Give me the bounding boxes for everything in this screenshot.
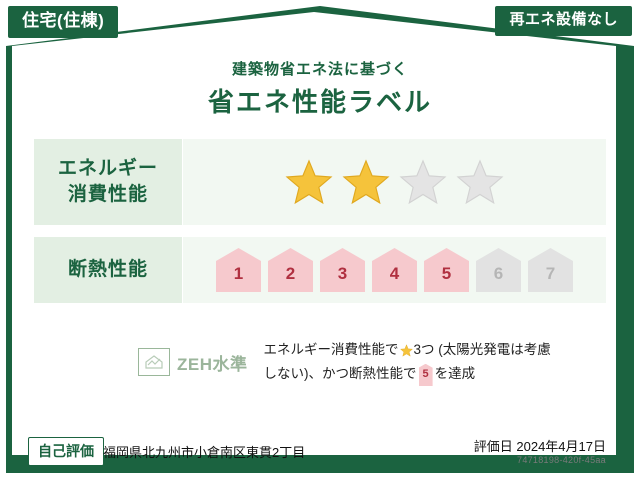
insulation-grade-5: 5	[424, 248, 469, 292]
insulation-grade-6: 6	[476, 248, 521, 292]
energy-performance-stars-area	[182, 139, 606, 225]
grade-number-1: 1	[234, 264, 243, 292]
page-title: 省エネ性能ラベル	[0, 82, 640, 119]
property-address: 福岡県北九州市小倉南区東貫2丁目	[103, 442, 305, 461]
insulation-grades-area: 1 2 3 4 5	[182, 237, 606, 303]
star-icon-inline	[400, 344, 413, 357]
insulation-performance-row: 断熱性能 1 2 3 4	[33, 236, 607, 304]
grade-number-2: 2	[286, 264, 295, 292]
insulation-grade-7: 7	[528, 248, 573, 292]
star-icon-empty-3	[399, 159, 447, 205]
zeh-badge: ZEH水準	[138, 348, 248, 376]
zeh-badge-label: ZEH水準	[177, 350, 248, 375]
insulation-grade-3: 3	[320, 248, 365, 292]
grade-number-5: 5	[442, 264, 451, 292]
star-icon-filled-1	[285, 159, 333, 205]
insulation-grade-2: 2	[268, 248, 313, 292]
energy-label-line2: 消費性能	[68, 184, 148, 205]
house-type-tag: 住宅(住棟)	[8, 6, 118, 38]
title-subtitle: 建築物省エネ法に基づく	[0, 58, 640, 79]
star-rating	[285, 159, 504, 205]
energy-label-line1: エネルギー	[58, 158, 158, 179]
evaluation-date: 評価日 2024年4月17日	[474, 436, 606, 455]
zeh-desc-grade-badge: 5	[419, 364, 433, 386]
star-icon-filled-2	[342, 159, 390, 205]
renewable-equipment-tag: 再エネ設備なし	[495, 6, 632, 36]
energy-performance-row: エネルギー 消費性能	[33, 138, 607, 226]
grade-number-3: 3	[338, 264, 347, 292]
serial-number: 74718198-420f-45aa	[517, 455, 606, 465]
grade-number-7: 7	[546, 264, 555, 292]
insulation-performance-label-text: 断熱性能	[34, 257, 182, 283]
zeh-house-icon-glyph	[144, 354, 164, 370]
energy-performance-label: 住宅(住棟) 再エネ設備なし 建築物省エネ法に基づく 省エネ性能ラベル エネルギ…	[0, 0, 640, 479]
zeh-desc-part-1: エネルギー消費性能で	[264, 342, 399, 357]
insulation-grade-scale: 1 2 3 4 5	[216, 248, 573, 292]
zeh-desc-part-2: 3つ (太陽光発電	[414, 342, 511, 357]
grade-number-4: 4	[390, 264, 399, 292]
insulation-grade-1: 1	[216, 248, 261, 292]
grade-number-6: 6	[494, 264, 503, 292]
energy-performance-label-text: エネルギー 消費性能	[34, 156, 182, 207]
zeh-icon	[138, 348, 170, 376]
insulation-grade-4: 4	[372, 248, 417, 292]
zeh-desc-part-4: を達成	[435, 366, 476, 381]
star-icon-empty-4	[456, 159, 504, 205]
zeh-section: ZEH水準 エネルギー消費性能で3つ (太陽光発電は考慮しない)、かつ断熱性能で…	[33, 325, 607, 399]
zeh-description: エネルギー消費性能で3つ (太陽光発電は考慮しない)、かつ断熱性能で5を達成	[264, 338, 564, 386]
self-evaluation-badge: 自己評価	[28, 437, 104, 466]
